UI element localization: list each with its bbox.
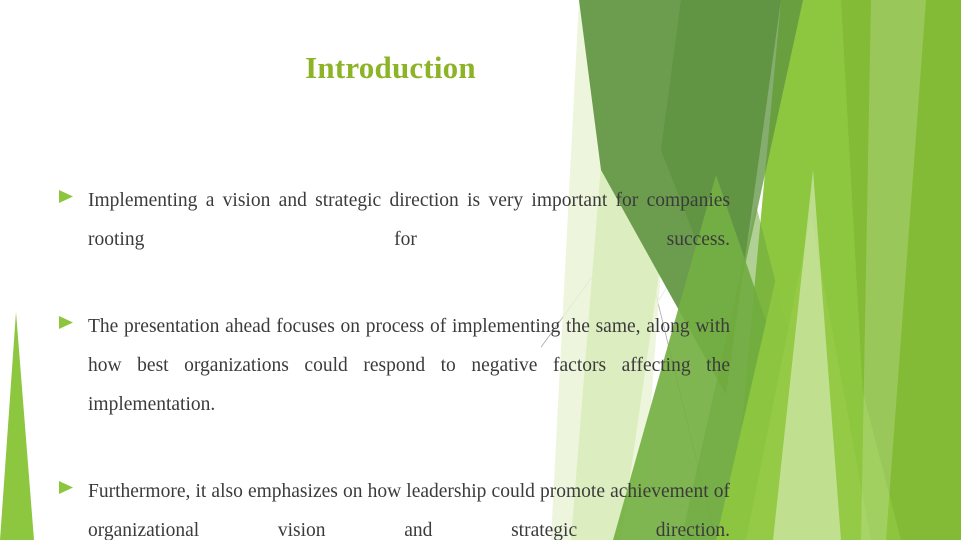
list-item: Implementing a vision and strategic dire… <box>58 181 730 298</box>
green-spike-shape <box>0 312 34 540</box>
list-item-text: Implementing a vision and strategic dire… <box>88 181 730 298</box>
list-item-text: Furthermore, it also emphasizes on how l… <box>88 472 730 540</box>
triangle-right-bullet-icon <box>58 315 75 330</box>
list-item-text: The presentation ahead focuses on proces… <box>88 307 730 463</box>
pale-sliver-shape <box>773 170 841 540</box>
list-item: Furthermore, it also emphasizes on how l… <box>58 472 730 540</box>
bullet-list: Implementing a vision and strategic dire… <box>58 181 730 540</box>
bright-green-band-shape <box>841 0 961 540</box>
light-green-inner-shape <box>746 215 871 540</box>
triangle-right-bullet-icon <box>58 480 75 495</box>
title-container: Introduction <box>0 50 781 86</box>
highlight-sliver-shape <box>861 0 926 540</box>
triangle-right-bullet-icon <box>58 189 75 204</box>
list-item: The presentation ahead focuses on proces… <box>58 307 730 463</box>
light-green-triangle-shape <box>716 160 901 540</box>
slide-canvas: Introduction Implementing a vision and s… <box>0 0 961 540</box>
page-title: Introduction <box>0 50 781 86</box>
